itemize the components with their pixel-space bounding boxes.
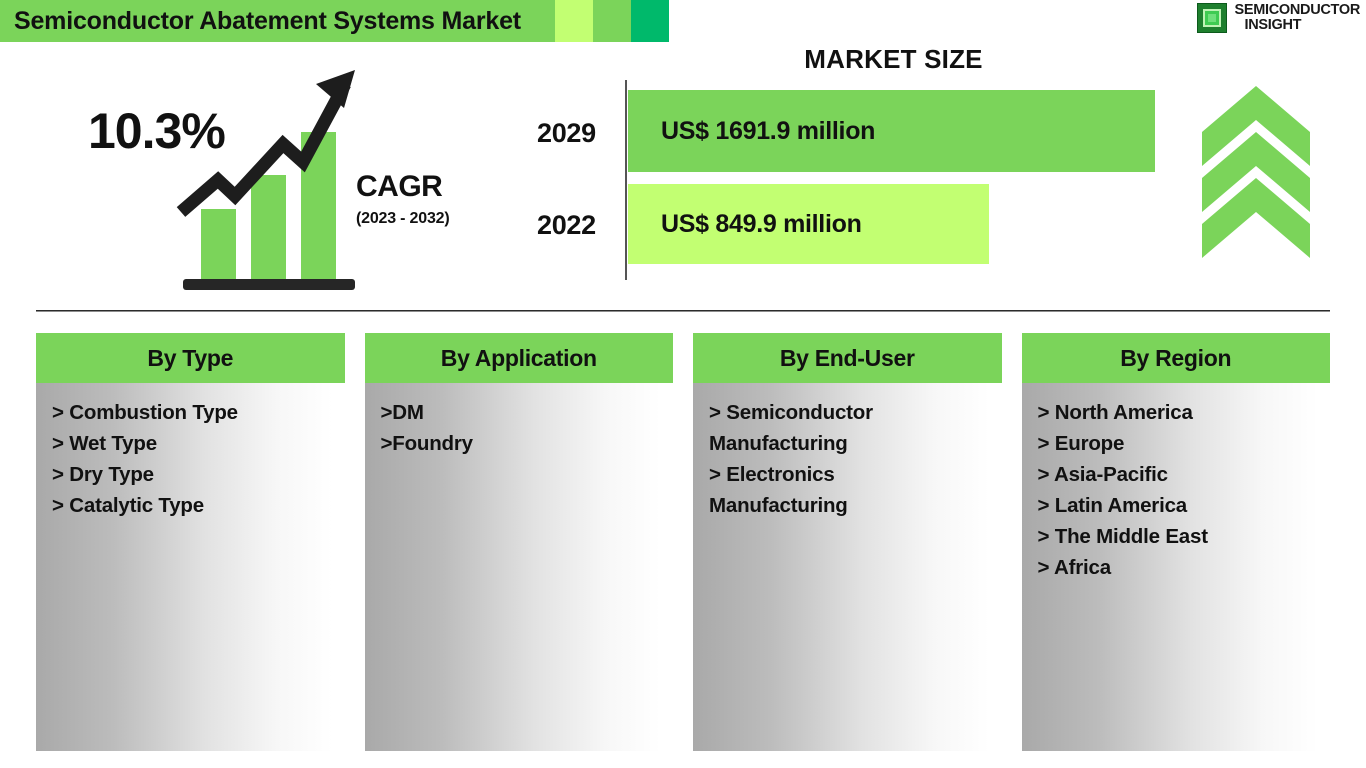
list-item: > Wet Type: [52, 428, 335, 459]
list-item: > Dry Type: [52, 459, 335, 490]
market-size-bar-2022: US$ 849.9 million: [628, 184, 989, 264]
brand-name: SEMICONDUCTOR INSIGHT: [1234, 3, 1360, 33]
list-item: >DM: [381, 397, 664, 428]
list-item: > Latin America: [1038, 490, 1321, 521]
list-item: > Europe: [1038, 428, 1321, 459]
segment-card-header: By Region: [1022, 333, 1331, 383]
list-item: > North America: [1038, 397, 1321, 428]
list-item: > Combustion Type: [52, 397, 335, 428]
list-item: > The Middle East: [1038, 521, 1321, 552]
segment-card-by-region: By Region > North America > Europe > Asi…: [1022, 333, 1331, 751]
segment-cards: By Type > Combustion Type > Wet Type > D…: [36, 333, 1330, 751]
brand-line-1: SEMICONDUCTOR: [1234, 3, 1360, 18]
list-item: >Foundry: [381, 428, 664, 459]
page-title: Semiconductor Abatement Systems Market: [14, 7, 521, 36]
bar-value-2022: US$ 849.9 million: [628, 210, 862, 239]
list-item: > Asia-Pacific: [1038, 459, 1321, 490]
cagr-period: (2023 - 2032): [356, 210, 449, 228]
segment-card-by-application: By Application >DM >Foundry: [365, 333, 674, 751]
market-size-bar-2029: US$ 1691.9 million: [628, 90, 1155, 172]
segment-card-body: > North America > Europe > Asia-Pacific …: [1022, 383, 1331, 751]
color-swatch-1: [555, 0, 593, 42]
growth-bar-chart-arrow-icon: [173, 62, 368, 297]
segment-list: > North America > Europe > Asia-Pacific …: [1038, 397, 1321, 583]
segment-card-title: By Type: [147, 345, 233, 372]
infographic-root: Semiconductor Abatement Systems Market S…: [0, 0, 1366, 768]
segment-list: >DM >Foundry: [381, 397, 664, 459]
color-swatch-3: [631, 0, 669, 42]
bar-year-label-2022: 2022: [537, 210, 596, 241]
segment-card-title: By Region: [1120, 345, 1231, 372]
cagr-label: CAGR: [356, 170, 449, 204]
microchip-icon: [1197, 3, 1227, 33]
segment-card-body: > Combustion Type > Wet Type > Dry Type …: [36, 383, 345, 751]
bar-year-label-2029: 2029: [537, 118, 596, 149]
segment-card-header: By Application: [365, 333, 674, 383]
bar-value-2029: US$ 1691.9 million: [628, 117, 875, 146]
cagr-label-group: CAGR (2023 - 2032): [356, 170, 449, 228]
segment-card-body: >DM >Foundry: [365, 383, 674, 751]
segment-card-header: By End-User: [693, 333, 1002, 383]
cagr-block: 10.3% CAGR (2023 - 2032): [78, 62, 518, 297]
segment-card-by-type: By Type > Combustion Type > Wet Type > D…: [36, 333, 345, 751]
triple-chevron-up-icon: [1200, 82, 1312, 262]
market-size-axis: [625, 80, 627, 280]
list-item: > Africa: [1038, 552, 1321, 583]
brand-line-2: INSIGHT: [1234, 18, 1360, 33]
segment-card-by-end-user: By End-User > Semiconductor Manufacturin…: [693, 333, 1002, 751]
segment-card-title: By End-User: [780, 345, 915, 372]
brand-logo: SEMICONDUCTOR INSIGHT: [1197, 3, 1360, 33]
list-item: > Catalytic Type: [52, 490, 335, 521]
list-item: > Semiconductor Manufacturing: [709, 397, 992, 459]
segment-list: > Combustion Type > Wet Type > Dry Type …: [52, 397, 335, 521]
color-swatch-2: [593, 0, 631, 42]
title-banner: Semiconductor Abatement Systems Market: [0, 0, 670, 42]
segment-list: > Semiconductor Manufacturing > Electron…: [709, 397, 992, 521]
section-divider: [36, 310, 1330, 312]
segment-card-header: By Type: [36, 333, 345, 383]
segment-card-body: > Semiconductor Manufacturing > Electron…: [693, 383, 1002, 751]
title-banner-main: Semiconductor Abatement Systems Market: [0, 0, 555, 42]
segment-card-title: By Application: [441, 345, 597, 372]
market-size-title: MARKET SIZE: [626, 44, 1161, 75]
list-item: > Electronics Manufacturing: [709, 459, 992, 521]
